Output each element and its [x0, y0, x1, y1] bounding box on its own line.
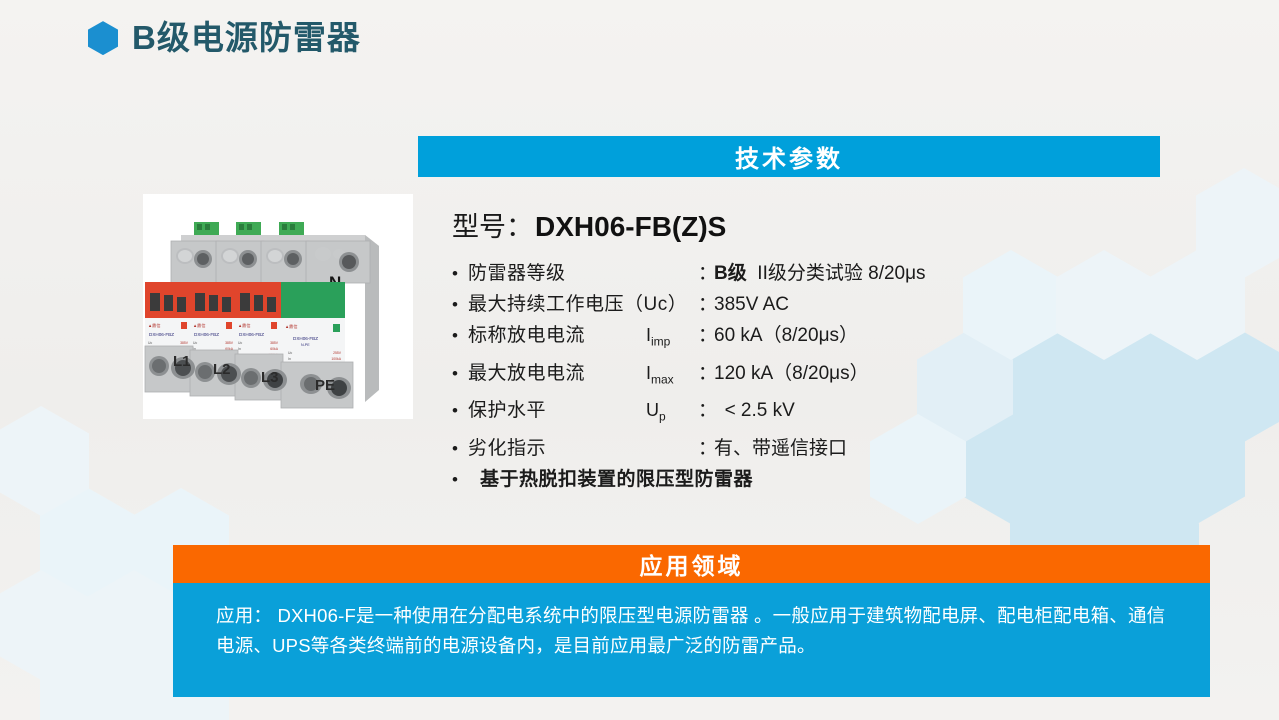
svg-text:60kA: 60kA	[270, 347, 278, 351]
spec-symbol-subscript: imp	[651, 335, 670, 349]
spec-symbol-subscript: max	[651, 372, 674, 386]
svg-text:385V: 385V	[180, 341, 189, 345]
spec-value: < 2.5 kV	[714, 395, 1152, 426]
product-image: N	[143, 194, 413, 419]
spec-value: 60 kA（8/20μs）	[714, 320, 1152, 351]
spec-colon: ：	[698, 320, 714, 351]
page-title: B级电源防雷器	[88, 20, 361, 56]
spec-label: 保护水平	[468, 395, 646, 426]
spec-label: 标称放电电流	[468, 320, 646, 351]
bullet-icon: •	[452, 320, 468, 351]
model-value: DXH06-FB(Z)S	[535, 211, 726, 243]
tech-params-header-label: 技术参数	[735, 139, 843, 174]
bullet-icon: •	[452, 289, 468, 320]
hexagon-icon	[88, 21, 118, 55]
spec-value-rest: II级分类试验 8/20μs	[757, 263, 925, 284]
svg-text:▲鼎信: ▲鼎信	[193, 322, 206, 329]
hexagon-shape	[40, 652, 136, 720]
spec-value: 385V AC	[714, 289, 1152, 320]
spec-row: • 基于热脱扣装置的限压型防雷器	[452, 464, 1152, 495]
hexagon-shape	[86, 570, 182, 680]
svg-text:L1: L1	[173, 353, 191, 370]
svg-text:DXH06-FBZ: DXH06-FBZ	[239, 332, 264, 337]
hexagon-shape	[0, 570, 89, 680]
spec-symbol-subscript: p	[659, 410, 666, 424]
spec-symbol: Iimp	[646, 320, 698, 358]
bullet-icon: •	[452, 358, 468, 389]
spec-label: 防雷器等级	[468, 258, 646, 289]
tech-params-header: 技术参数	[418, 136, 1160, 177]
application-body-text: 应用： DXH06-F是一种使用在分配电系统中的限压型电源防雷器 。一般应用于建…	[216, 601, 1181, 661]
svg-text:In: In	[288, 357, 291, 361]
svg-text:DXH06-FBZ: DXH06-FBZ	[293, 336, 318, 341]
spec-value: 有、带遥信接口	[714, 433, 1152, 464]
svg-text:N-PE: N-PE	[301, 343, 310, 347]
tech-params-list: • 防雷器等级 ： B级 II级分类试验 8/20μs • 最大持续工作电压（U…	[452, 258, 1152, 495]
spec-value-emphasis: B级	[714, 263, 747, 284]
svg-text:255V: 255V	[333, 351, 342, 355]
hexagon-shape	[40, 488, 136, 598]
svg-text:▲鼎信: ▲鼎信	[238, 322, 251, 329]
svg-text:L2: L2	[213, 361, 231, 378]
hexagon-shape	[1149, 414, 1245, 524]
model-line: 型号： DXH06-FB(Z)S	[452, 205, 726, 244]
svg-text:100kA: 100kA	[331, 357, 341, 361]
spec-label: 最大持续工作电压（Uc）	[468, 289, 698, 320]
spec-row: • 劣化指示 ： 有、带遥信接口	[452, 433, 1152, 464]
hexagon-shape	[0, 406, 89, 516]
spec-label: 最大放电电流	[468, 358, 646, 389]
spec-row: • 标称放电电流 Iimp ： 60 kA（8/20μs）	[452, 320, 1152, 358]
spec-row: • 最大持续工作电压（Uc） ： 385V AC	[452, 289, 1152, 320]
svg-text:Uc: Uc	[148, 341, 152, 345]
spec-label: 劣化指示	[468, 433, 646, 464]
spec-colon: ：	[698, 395, 714, 426]
slide-canvas: B级电源防雷器	[0, 0, 1279, 720]
spec-colon: ：	[698, 358, 714, 389]
spec-colon: ：	[698, 289, 714, 320]
spec-value-rest: < 2.5 kV	[725, 400, 795, 421]
spec-colon: ：	[698, 433, 714, 464]
svg-text:L3: L3	[261, 369, 279, 386]
svg-text:385V: 385V	[225, 341, 234, 345]
spec-value: B级 II级分类试验 8/20μs	[714, 258, 1152, 289]
hexagon-shape	[1196, 168, 1279, 278]
spec-symbol: Up	[646, 395, 698, 433]
model-label: 型号：	[452, 205, 533, 244]
svg-text:▲鼎信: ▲鼎信	[285, 323, 298, 330]
svg-text:Uc: Uc	[288, 351, 292, 355]
svg-text:Uc: Uc	[193, 341, 197, 345]
spec-symbol-base: U	[646, 400, 659, 420]
application-header-label: 应用领域	[640, 547, 744, 581]
svg-text:DXH06-FBZ: DXH06-FBZ	[194, 332, 219, 337]
bullet-icon: •	[452, 258, 468, 289]
bullet-icon: •	[452, 464, 468, 495]
svg-text:▲鼎信: ▲鼎信	[148, 322, 161, 329]
spec-value: 120 kA（8/20μs）	[714, 358, 1152, 389]
svg-text:385V: 385V	[270, 341, 279, 345]
bullet-icon: •	[452, 433, 468, 464]
spec-symbol: Imax	[646, 358, 698, 396]
application-header: 应用领域	[173, 545, 1210, 583]
spec-row: • 最大放电电流 Imax ： 120 kA（8/20μs）	[452, 358, 1152, 396]
svg-text:In: In	[238, 347, 241, 351]
spec-row: • 防雷器等级 ： B级 II级分类试验 8/20μs	[452, 258, 1152, 289]
spec-colon: ：	[698, 258, 714, 289]
application-body: 应用： DXH06-F是一种使用在分配电系统中的限压型电源防雷器 。一般应用于建…	[173, 583, 1210, 697]
spec-label: 基于热脱扣装置的限压型防雷器	[468, 464, 753, 495]
svg-text:Uc: Uc	[238, 341, 242, 345]
product-image-graphic: N	[143, 194, 413, 419]
svg-text:DXH06-FBZ: DXH06-FBZ	[149, 332, 174, 337]
hexagon-shape	[1196, 332, 1279, 442]
svg-text:PE: PE	[315, 377, 335, 394]
hexagon-shape	[1149, 250, 1245, 360]
bullet-icon: •	[452, 395, 468, 426]
page-title-text: B级电源防雷器	[132, 20, 361, 56]
spec-row: • 保护水平 Up ： < 2.5 kV	[452, 395, 1152, 433]
